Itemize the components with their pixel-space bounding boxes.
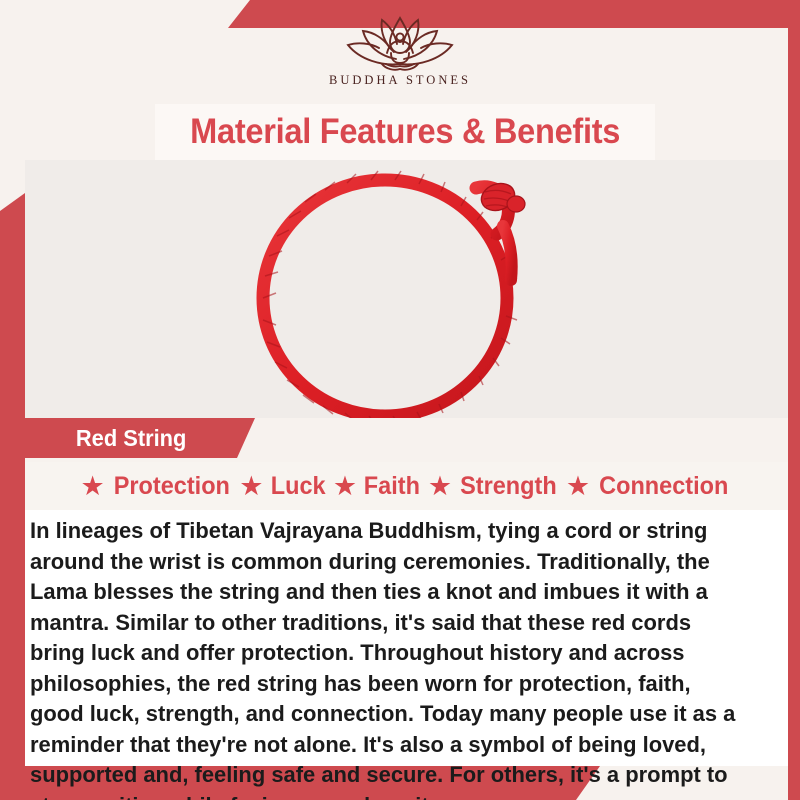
star-icon: ★ — [566, 473, 590, 500]
benefit-item: ★ Strength — [428, 472, 560, 501]
star-icon: ★ — [428, 473, 452, 500]
benefit-label-faith: Faith — [364, 472, 420, 501]
benefit-item: ★ Protection — [80, 472, 233, 501]
brand-name: BUDDHA STONES — [329, 73, 471, 88]
infographic-page: BUDDHA STONES Material Features & Benefi… — [0, 0, 800, 800]
page-title: Material Features & Benefits — [190, 112, 620, 152]
benefit-label-luck: Luck — [270, 472, 325, 501]
benefit-item: ★ Connection — [566, 472, 733, 501]
title-band: Material Features & Benefits — [155, 104, 655, 160]
star-icon: ★ — [80, 473, 104, 500]
brand-header: BUDDHA STONES — [0, 0, 800, 100]
lotus-meditation-icon — [334, 12, 466, 72]
description-paragraph: In lineages of Tibetan Vajrayana Buddhis… — [30, 516, 748, 800]
benefit-label-protection: Protection — [113, 472, 229, 501]
benefit-label-connection: Connection — [599, 472, 728, 501]
decor-left-red-bar — [0, 193, 25, 800]
benefit-item: ★ Luck — [239, 472, 327, 501]
benefits-list: ★ Protection ★ Luck ★ Faith ★ Strength ★… — [25, 462, 788, 510]
product-label: Red String — [76, 425, 186, 452]
description-block: In lineages of Tibetan Vajrayana Buddhis… — [25, 510, 788, 766]
benefit-item: ★ Faith — [333, 472, 422, 501]
star-icon: ★ — [239, 473, 263, 500]
product-label-banner: Red String — [25, 418, 255, 458]
decor-right-red-bar — [788, 0, 800, 800]
red-braided-string-bracelet-icon — [227, 164, 567, 418]
product-image-area — [25, 160, 788, 418]
benefit-label-strength: Strength — [460, 472, 557, 501]
star-icon: ★ — [333, 473, 357, 500]
